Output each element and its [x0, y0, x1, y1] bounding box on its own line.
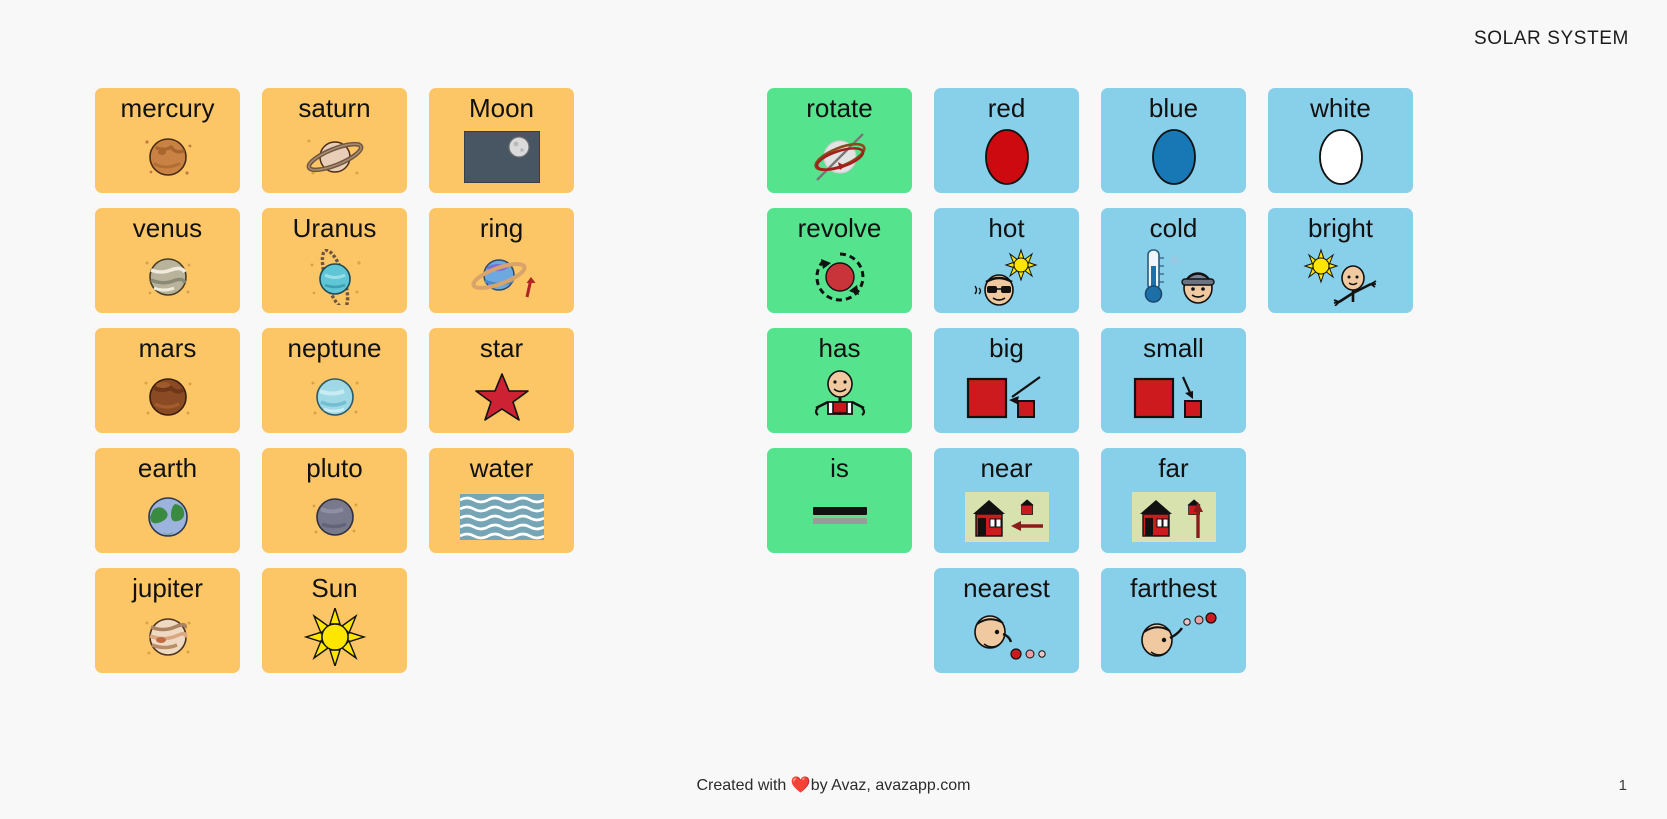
card-bright[interactable]: bright	[1268, 208, 1413, 313]
card-label: big	[989, 334, 1024, 364]
planet-uranus-icon	[262, 244, 407, 313]
card-label: near	[980, 454, 1032, 484]
card-pluto[interactable]: pluto	[262, 448, 407, 553]
nearest-person-dots-icon	[934, 604, 1079, 673]
hot-sun-person-icon	[934, 244, 1079, 313]
card-label: far	[1158, 454, 1188, 484]
noun-card-grid: mercury saturn Moon venus Uranus ring ma…	[95, 88, 574, 673]
card-star[interactable]: star	[429, 328, 574, 433]
noun-card-row: earth pluto water	[95, 448, 574, 553]
card-far[interactable]: far	[1101, 448, 1246, 553]
card-big[interactable]: big	[934, 328, 1079, 433]
card-label: Moon	[469, 94, 534, 124]
adjective-card-row: big small	[934, 328, 1413, 433]
empty-slot	[1268, 334, 1413, 433]
star-icon	[429, 364, 574, 433]
empty-slot	[429, 574, 574, 673]
white-oval-icon	[1268, 124, 1413, 193]
right-section: rotate revolve has is red blue white hot	[767, 88, 1413, 673]
empty-slot	[1268, 574, 1413, 673]
card-label: neptune	[288, 334, 382, 364]
card-blue[interactable]: blue	[1101, 88, 1246, 193]
card-white[interactable]: white	[1268, 88, 1413, 193]
footer-credit-suffix: by Avaz, avazapp.com	[811, 777, 971, 794]
card-label: is	[830, 454, 849, 484]
card-mars[interactable]: mars	[95, 328, 240, 433]
sun-icon	[262, 604, 407, 673]
card-label: Uranus	[293, 214, 377, 244]
card-label: venus	[133, 214, 202, 244]
card-hot[interactable]: hot	[934, 208, 1079, 313]
noun-card-row: jupiter Sun	[95, 568, 574, 673]
card-label: pluto	[306, 454, 362, 484]
card-label: revolve	[798, 214, 882, 244]
equals-bar-icon	[767, 484, 912, 553]
card-water[interactable]: water	[429, 448, 574, 553]
adjective-card-row: hot cold bright	[934, 208, 1413, 313]
card-label: bright	[1308, 214, 1373, 244]
noun-card-row: venus Uranus ring	[95, 208, 574, 313]
heart-icon: ❤️	[791, 777, 811, 794]
page-number: 1	[1619, 777, 1627, 794]
near-house-arrow-icon	[934, 484, 1079, 553]
card-venus[interactable]: venus	[95, 208, 240, 313]
footer-credit-prefix: Created with	[697, 777, 791, 794]
card-is[interactable]: is	[767, 448, 912, 553]
blue-oval-icon	[1101, 124, 1246, 193]
footer: Created with ❤️by Avaz, avazapp.com 1	[0, 757, 1667, 819]
card-rotate[interactable]: rotate	[767, 88, 912, 193]
empty-card-slot	[1268, 448, 1413, 553]
big-square-icon	[934, 364, 1079, 433]
card-label: farthest	[1130, 574, 1217, 604]
empty-card-slot	[1268, 568, 1413, 673]
moon-night-sky-icon	[429, 124, 574, 193]
card-label: mars	[139, 334, 197, 364]
planet-earth-icon	[95, 484, 240, 553]
card-jupiter[interactable]: jupiter	[95, 568, 240, 673]
card-label: Sun	[311, 574, 357, 604]
planet-mars-icon	[95, 364, 240, 433]
card-small[interactable]: small	[1101, 328, 1246, 433]
rotate-planet-icon	[767, 124, 912, 193]
revolve-orbit-icon	[767, 244, 912, 313]
card-label: mercury	[121, 94, 215, 124]
empty-slot	[1268, 454, 1413, 553]
page-title: SOLAR SYSTEM	[1474, 28, 1629, 50]
footer-credit: Created with ❤️by Avaz, avazapp.com	[0, 775, 1667, 795]
card-label: cold	[1150, 214, 1198, 244]
card-sun[interactable]: Sun	[262, 568, 407, 673]
planet-neptune-icon	[262, 364, 407, 433]
symbol-board: mercury saturn Moon venus Uranus ring ma…	[0, 88, 1667, 673]
card-label: earth	[138, 454, 197, 484]
card-label: has	[819, 334, 861, 364]
small-square-icon	[1101, 364, 1246, 433]
adjective-card-row: red blue white	[934, 88, 1413, 193]
planet-jupiter-icon	[95, 604, 240, 673]
card-ring[interactable]: ring	[429, 208, 574, 313]
card-label: white	[1310, 94, 1371, 124]
card-label: star	[480, 334, 523, 364]
card-label: rotate	[806, 94, 873, 124]
card-saturn[interactable]: saturn	[262, 88, 407, 193]
card-red[interactable]: red	[934, 88, 1079, 193]
card-mercury[interactable]: mercury	[95, 88, 240, 193]
card-label: nearest	[963, 574, 1050, 604]
red-oval-icon	[934, 124, 1079, 193]
far-house-arrow-icon	[1101, 484, 1246, 553]
farthest-person-dots-icon	[1101, 604, 1246, 673]
planet-saturn-icon	[262, 124, 407, 193]
bright-sun-person-icon	[1268, 244, 1413, 313]
cold-thermometer-icon	[1101, 244, 1246, 313]
card-label: hot	[988, 214, 1024, 244]
card-uranus[interactable]: Uranus	[262, 208, 407, 313]
empty-card-slot	[429, 568, 574, 673]
noun-card-row: mars neptune star	[95, 328, 574, 433]
noun-card-row: mercury saturn Moon	[95, 88, 574, 193]
card-neptune[interactable]: neptune	[262, 328, 407, 433]
card-revolve[interactable]: revolve	[767, 208, 912, 313]
adjective-card-row: near far	[934, 448, 1413, 553]
adjective-card-grid: red blue white hot cold bright	[934, 88, 1413, 673]
adjective-card-row: nearest farthest	[934, 568, 1413, 673]
card-farthest[interactable]: farthest	[1101, 568, 1246, 673]
planet-venus-icon	[95, 244, 240, 313]
planet-mercury-icon	[95, 124, 240, 193]
person-holding-icon	[767, 364, 912, 433]
verb-card-column: rotate revolve has is	[767, 88, 912, 553]
planet-ring-icon	[429, 244, 574, 313]
card-has[interactable]: has	[767, 328, 912, 433]
empty-card-slot	[1268, 328, 1413, 433]
water-waves-icon	[429, 484, 574, 553]
card-label: water	[470, 454, 534, 484]
card-earth[interactable]: earth	[95, 448, 240, 553]
card-cold[interactable]: cold	[1101, 208, 1246, 313]
card-label: saturn	[298, 94, 370, 124]
card-moon[interactable]: Moon	[429, 88, 574, 193]
card-label: jupiter	[132, 574, 203, 604]
card-label: red	[988, 94, 1026, 124]
card-label: blue	[1149, 94, 1198, 124]
card-label: small	[1143, 334, 1204, 364]
planet-pluto-icon	[262, 484, 407, 553]
card-near[interactable]: near	[934, 448, 1079, 553]
card-label: ring	[480, 214, 523, 244]
card-nearest[interactable]: nearest	[934, 568, 1079, 673]
solar-system-board-page: SOLAR SYSTEM mercury saturn Moon venus U…	[0, 0, 1667, 819]
